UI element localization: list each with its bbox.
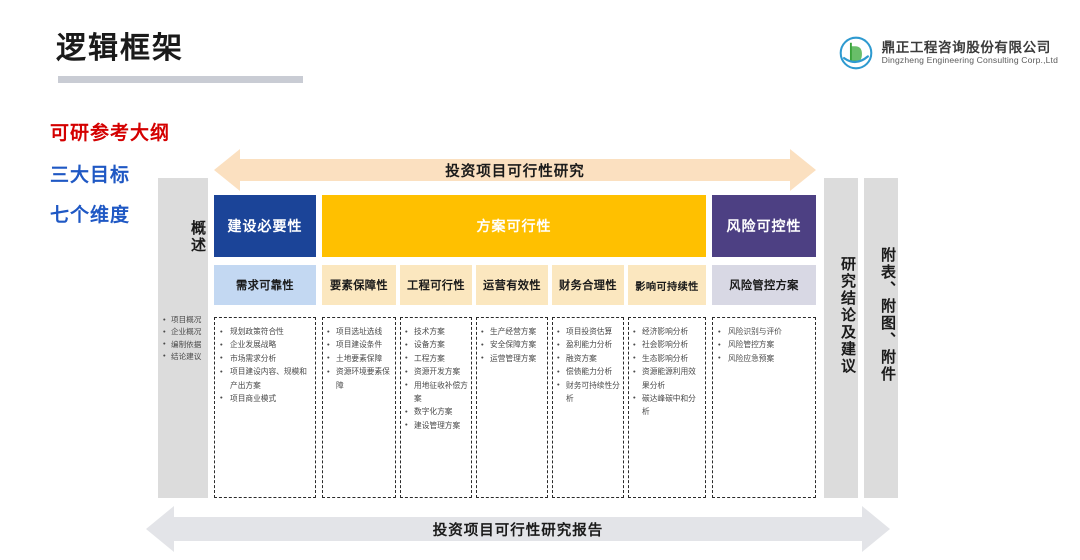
list-item: 项目建设条件 (326, 338, 392, 351)
list-item: 土地要素保障 (326, 352, 392, 365)
tier3-list-risk-control-plan: 风险识别与评价风险管控方案风险应急预案 (712, 317, 816, 498)
list-item: 融资方案 (556, 352, 620, 365)
bottom-double-arrow: 投资项目可行性研究报告 (146, 506, 890, 552)
logo-company-en: Dingzheng Engineering Consulting Corp.,L… (882, 56, 1058, 66)
list-item: 项目投资估算 (556, 325, 620, 338)
list-item: 风险应急预案 (716, 352, 812, 365)
tier2-label: 运营有效性 (483, 277, 541, 293)
logo-company-cn: 鼎正工程咨询股份有限公司 (882, 40, 1058, 55)
list-item: 项目商业模式 (218, 392, 312, 405)
tier3-list-financial-rationality: 项目投资估算盈利能力分析融资方案偿债能力分析财务可持续性分析 (552, 317, 624, 498)
list-item: 项目建设内容、规模和产出方案 (218, 365, 312, 392)
tier3-list-impact-sustainability: 经济影响分析社会影响分析生态影响分析资源能源利用效果分析碳达峰碳中和分析 (628, 317, 706, 498)
tier2-label: 需求可靠性 (236, 277, 294, 293)
list-item: 企业发展战略 (218, 338, 312, 351)
slide-canvas: 逻辑框架 鼎正工程咨询股份有限公司 Dingzheng Engineering … (0, 0, 1080, 560)
title-underline-rule (58, 76, 303, 83)
tier1-box-necessity: 建设必要性 (214, 195, 316, 257)
list-item: 项目概况 (162, 314, 206, 326)
dingzheng-circle-logo-icon (839, 36, 873, 70)
list-item: 结论建议 (162, 351, 206, 363)
logo-text-block: 鼎正工程咨询股份有限公司 Dingzheng Engineering Consu… (882, 40, 1058, 66)
tier2-label: 风险管控方案 (729, 277, 799, 293)
list-item: 企业概况 (162, 326, 206, 338)
label-three-goals: 三大目标 (50, 160, 130, 187)
tier2-box-impact-sustainability: 影响可持续性 (628, 265, 706, 305)
list-item: 用地征收补偿方案 (404, 379, 468, 406)
tier1-box-risk-controllability: 风险可控性 (712, 195, 816, 257)
column-overview: 概述 项目概况 企业概况 编制依据 结论建议 (158, 178, 208, 498)
column-annexes-title: 附表、附图、附件 (864, 240, 898, 390)
tier2-box-risk-control-plan: 风险管控方案 (712, 265, 816, 305)
list-item: 经济影响分析 (632, 325, 702, 338)
tier1-label: 风险可控性 (727, 216, 802, 236)
list-item: 资源环境要素保障 (326, 365, 392, 392)
list-item: 设备方案 (404, 338, 468, 351)
label-seven-dimensions: 七个维度 (50, 200, 130, 227)
list-item: 资源能源利用效果分析 (632, 365, 702, 392)
list-item: 工程方案 (404, 352, 468, 365)
tier3-list-factor-assurance: 项目选址选线项目建设条件土地要素保障资源环境要素保障 (322, 317, 396, 498)
list-item: 技术方案 (404, 325, 468, 338)
list-item: 社会影响分析 (632, 338, 702, 351)
list-item: 规划政策符合性 (218, 325, 312, 338)
top-double-arrow: 投资项目可行性研究 (214, 149, 816, 191)
column-overview-title: 概述 (158, 206, 208, 268)
page-title: 逻辑框架 (56, 34, 184, 64)
tier2-box-financial-rationality: 财务合理性 (552, 265, 624, 305)
top-arrow-label: 投资项目可行性研究 (214, 149, 816, 191)
tier2-box-operational-effectiveness: 运营有效性 (476, 265, 548, 305)
tier3-list-engineering-feasibility: 技术方案设备方案工程方案资源开发方案用地征收补偿方案数字化方案建设管理方案 (400, 317, 472, 498)
tier2-label: 要素保障性 (330, 277, 388, 293)
list-item: 安全保障方案 (480, 338, 544, 351)
tier2-label: 工程可行性 (407, 277, 465, 293)
list-item: 运营管理方案 (480, 352, 544, 365)
list-item: 财务可持续性分析 (556, 379, 620, 406)
label-outline: 可研参考大纲 (50, 118, 170, 145)
list-item: 生产经营方案 (480, 325, 544, 338)
tier1-label: 方案可行性 (477, 216, 552, 236)
list-item: 风险识别与评价 (716, 325, 812, 338)
list-item: 偿债能力分析 (556, 365, 620, 378)
column-overview-list: 项目概况 企业概况 编制依据 结论建议 (162, 314, 206, 363)
tier2-box-demand-reliability: 需求可靠性 (214, 265, 316, 305)
list-item: 编制依据 (162, 339, 206, 351)
list-item: 风险管控方案 (716, 338, 812, 351)
tier3-list-demand-reliability: 规划政策符合性企业发展战略市场需求分析项目建设内容、规模和产出方案项目商业模式 (214, 317, 316, 498)
list-item: 数字化方案 (404, 405, 468, 418)
list-item: 碳达峰碳中和分析 (632, 392, 702, 419)
list-item: 项目选址选线 (326, 325, 392, 338)
column-conclusions: 研究结论及建议 (824, 178, 858, 498)
column-annexes: 附表、附图、附件 (864, 178, 898, 498)
tier2-box-factor-assurance: 要素保障性 (322, 265, 396, 305)
tier3-list-operational-effectiveness: 生产经营方案安全保障方案运营管理方案 (476, 317, 548, 498)
list-item: 生态影响分析 (632, 352, 702, 365)
tier1-box-scheme-feasibility: 方案可行性 (322, 195, 706, 257)
tier1-label: 建设必要性 (228, 216, 303, 236)
column-conclusions-title: 研究结论及建议 (824, 240, 858, 390)
tier2-label: 财务合理性 (559, 277, 617, 293)
bottom-arrow-label: 投资项目可行性研究报告 (146, 506, 890, 552)
list-item: 资源开发方案 (404, 365, 468, 378)
tier2-box-engineering-feasibility: 工程可行性 (400, 265, 472, 305)
company-logo: 鼎正工程咨询股份有限公司 Dingzheng Engineering Consu… (839, 36, 1058, 70)
list-item: 盈利能力分析 (556, 338, 620, 351)
tier2-label: 影响可持续性 (635, 278, 699, 293)
list-item: 市场需求分析 (218, 352, 312, 365)
list-item: 建设管理方案 (404, 419, 468, 432)
